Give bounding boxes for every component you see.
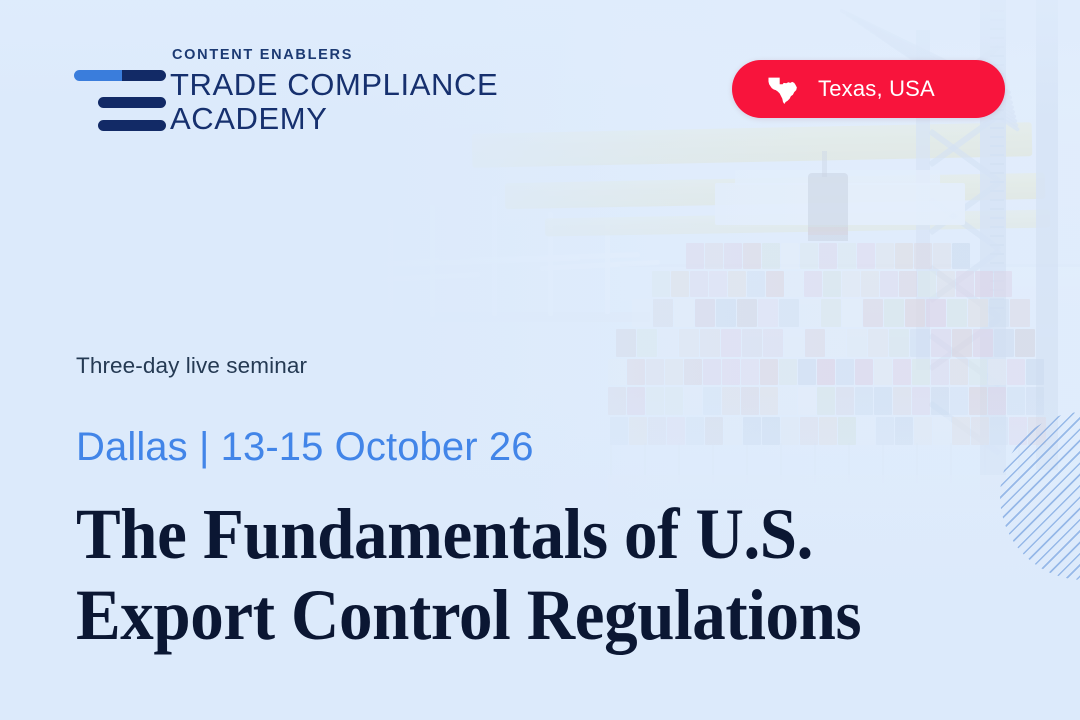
logo-bar-middle [98,97,166,108]
logo-wordmark: CONTENT ENABLERS TRADE COMPLIANCE ACADEM… [170,48,498,135]
three-bars-icon [74,48,166,140]
copy-block: Three-day live seminar Dallas | 13-15 Oc… [76,352,1006,655]
logo-line-one: TRADE COMPLIANCE [170,68,498,101]
texas-state-icon [766,73,800,106]
event-location-date: Dallas | 13-15 October 26 [76,426,1006,468]
brand-logo[interactable]: CONTENT ENABLERS TRADE COMPLIANCE ACADEM… [74,48,474,140]
logo-bar-bottom [98,120,166,131]
event-banner: CONTENT ENABLERS TRADE COMPLIANCE ACADEM… [0,0,1080,720]
location-badge-label: Texas, USA [818,76,935,102]
logo-line-two: ACADEMY [170,102,498,135]
event-title: The Fundamentals of U.S. Export Control … [76,494,941,655]
logo-bar-top [74,70,166,81]
location-badge[interactable]: Texas, USA [732,60,1005,118]
event-format-label: Three-day live seminar [76,352,1006,379]
logo-eyebrow: CONTENT ENABLERS [170,48,498,63]
